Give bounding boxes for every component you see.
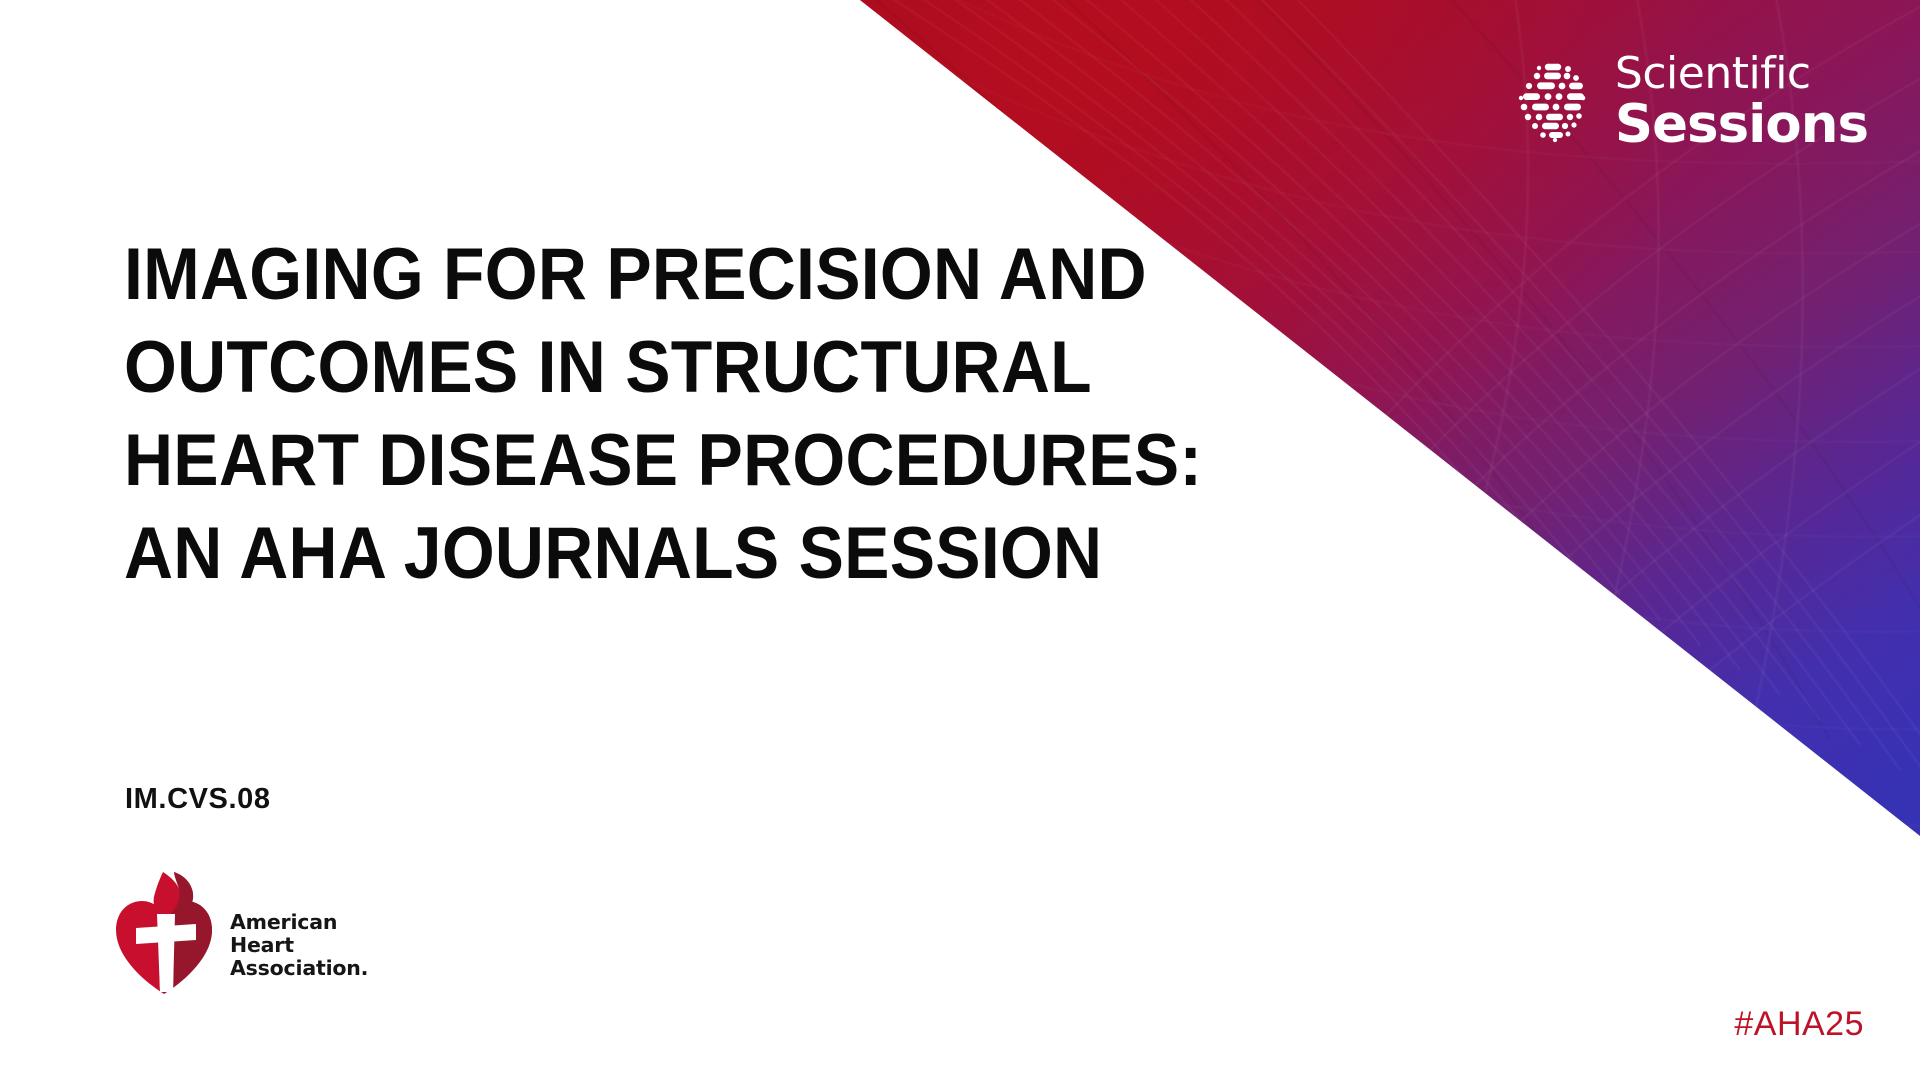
scientific-sessions-logo: Scientific Sessions <box>1515 52 1868 151</box>
title-line-4: AN AHA JOURNALS SESSION <box>124 507 1194 600</box>
slide-canvas: IMAGING FOR PRECISION AND OUTCOMES IN ST… <box>0 0 1920 1080</box>
title-line-1: IMAGING FOR PRECISION AND <box>124 228 1194 321</box>
scientific-sessions-line-2: Sessions <box>1615 98 1868 151</box>
heart-torch-icon <box>112 868 216 996</box>
session-code: IM.CVS.08 <box>125 783 271 816</box>
aha-wordmark-line-1: American <box>230 911 368 934</box>
aha-wordmark-line-3: Association. <box>230 957 368 980</box>
aha-wordmark-line-2: Heart <box>230 934 368 957</box>
dotted-globe-icon <box>1515 60 1593 144</box>
aha-logo: American Heart Association. <box>112 868 368 996</box>
scientific-sessions-line-1: Scientific <box>1615 52 1868 96</box>
page-title: IMAGING FOR PRECISION AND OUTCOMES IN ST… <box>124 228 1274 600</box>
title-line-3: HEART DISEASE PROCEDURES: <box>124 414 1194 507</box>
title-line-2: OUTCOMES IN STRUCTURAL <box>124 321 1194 414</box>
event-hashtag: #AHA25 <box>1734 1005 1864 1044</box>
scientific-sessions-wordmark: Scientific Sessions <box>1615 52 1868 151</box>
aha-wordmark: American Heart Association. <box>230 885 368 980</box>
